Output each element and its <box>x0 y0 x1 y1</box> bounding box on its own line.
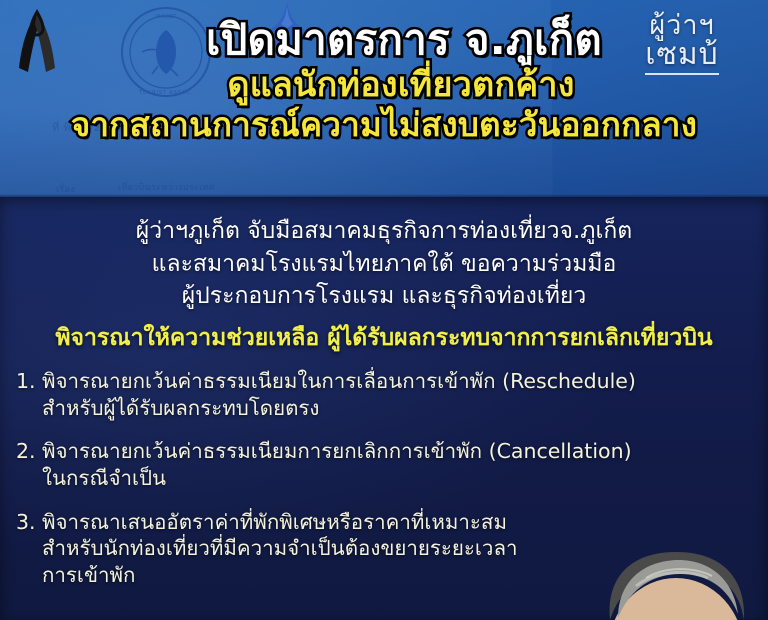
measure-line: พิจารณายกเว้นค่าธรรมเนียมในการเลื่อนการเ… <box>42 368 716 395</box>
headline: เปิดมาตรการ จ.ภูเก็ต ดูแลนักท่องเที่ยวตก… <box>0 18 768 142</box>
measure-body: พิจารณายกเว้นค่าธรรมเนียมการยกเลิกการเข้… <box>42 438 716 491</box>
measure-line: พิจารณาเสนออัตราค่าที่พักพิเศษหรือราคาที… <box>42 509 716 536</box>
infographic-poster: ที่ พิเศษ/2569 เรื่อง เที่ยวบินระหว่างปร… <box>0 0 768 620</box>
list-item: 1. พิจารณายกเว้นค่าธรรมเนียมในการเลื่อนก… <box>16 368 716 421</box>
measure-number: 1. <box>16 368 42 421</box>
measure-line: พิจารณายกเว้นค่าธรรมเนียมการยกเลิกการเข้… <box>42 438 716 465</box>
headline-line-3: จากสถานการณ์ความไม่สงบตะวันออกกลาง <box>0 108 768 142</box>
intro-line-2: ผู้ประกอบการโรงแรม และธุรกิจท่องเที่ยว <box>0 280 768 313</box>
measure-line: ในกรณีจำเป็น <box>42 465 716 492</box>
intro-line-1: และสมาคมโรงแรมไทยภาคใต้ ขอความร่วมมือ <box>0 248 768 281</box>
governor-portrait <box>576 534 766 620</box>
headline-line-1: เปิดมาตรการ จ.ภูเก็ต <box>40 18 768 62</box>
measure-body: พิจารณายกเว้นค่าธรรมเนียมในการเลื่อนการเ… <box>42 368 716 421</box>
measure-number: 2. <box>16 438 42 491</box>
measure-number: 3. <box>16 509 42 589</box>
intro-line-0: ผู้ว่าฯภูเก็ต จับมือสมาคมธุรกิจการท่องเท… <box>0 215 768 248</box>
list-item: 2. พิจารณายกเว้นค่าธรรมเนียมการยกเลิกการ… <box>16 438 716 491</box>
intro-paragraph: ผู้ว่าฯภูเก็ต จับมือสมาคมธุรกิจการท่องเท… <box>0 215 768 313</box>
highlight-statement: พิจารณาให้ความช่วยเหลือ ผู้ได้รับผลกระทบ… <box>0 320 768 356</box>
measure-line: สำหรับผู้ได้รับผลกระทบโดยตรง <box>42 395 716 422</box>
headline-line-2: ดูแลนักท่องเที่ยวตกค้าง <box>34 68 768 103</box>
